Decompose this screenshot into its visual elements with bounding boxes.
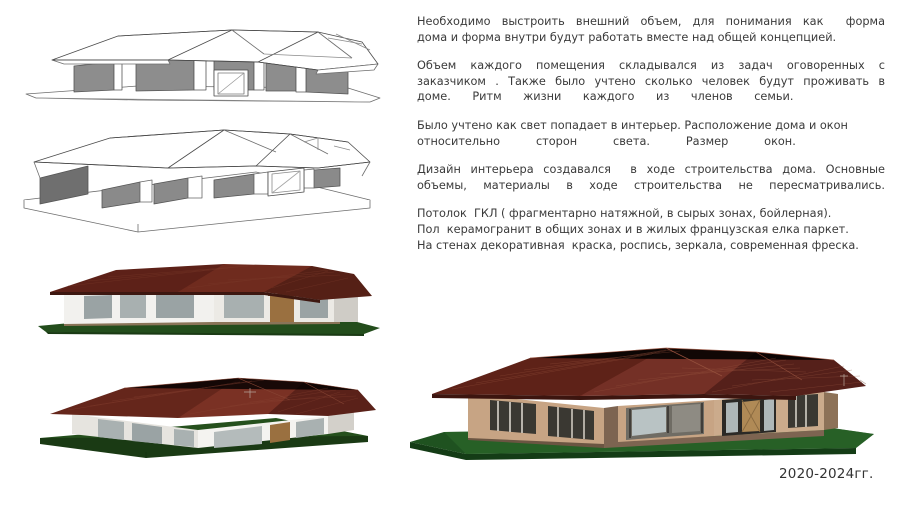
paragraph-line: Потолок ГКЛ ( фрагментарно натяжной, в с… [417, 206, 885, 222]
render-aerial-image [28, 352, 390, 464]
paragraph-line: относительно сторон света. Размер окон. [417, 134, 885, 150]
paragraph-line: Было учтено как свет попадает в интерьер… [417, 118, 885, 134]
description-paragraph-2: Объем каждого помещения складывался из з… [417, 58, 885, 105]
paragraph-line: Объем каждого помещения складывался из з… [417, 58, 885, 74]
project-description-text: Необходимо выстроить внешний объем, для … [417, 14, 885, 266]
figure-wireframe-aerial [18, 128, 390, 240]
paragraph-line: объемы, материалы в ходе строительства н… [417, 178, 885, 194]
paragraph-line: Необходимо выстроить внешний объем, для … [417, 14, 885, 30]
render-eye-level-image [28, 248, 390, 348]
figure-render-aerial-white [28, 352, 390, 464]
figure-render-eye-level-white [28, 248, 390, 348]
wireframe-aerial-drawing [18, 128, 390, 240]
paragraph-line: Дизайн интерьера создавался в ходе строи… [417, 162, 885, 178]
paragraph-line: Пол керамогранит в общих зонах и в жилых… [417, 222, 885, 238]
project-date-caption: 2020-2024гг. [779, 466, 873, 482]
figure-wireframe-eye-level [18, 14, 390, 126]
paragraph-line: заказчиком . Также было учтено сколько ч… [417, 74, 885, 90]
paragraph-line: На стенах декоративная краска, роспись, … [417, 238, 885, 254]
description-paragraph-4: Дизайн интерьера создавался в ходе строи… [417, 162, 885, 193]
figure-render-hero-tan [404, 342, 888, 464]
render-hero-image [404, 342, 888, 464]
description-paragraph-3: Было учтено как свет попадает в интерьер… [417, 118, 885, 149]
paragraph-line: дома и форма внутри будут работать вмест… [417, 30, 885, 46]
description-paragraph-1: Необходимо выстроить внешний объем, для … [417, 14, 885, 45]
paragraph-line: доме. Ритм жизни каждого из членов семьи… [417, 89, 885, 105]
description-paragraph-5: Потолок ГКЛ ( фрагментарно натяжной, в с… [417, 206, 885, 253]
wireframe-eye-level-drawing [18, 14, 390, 126]
